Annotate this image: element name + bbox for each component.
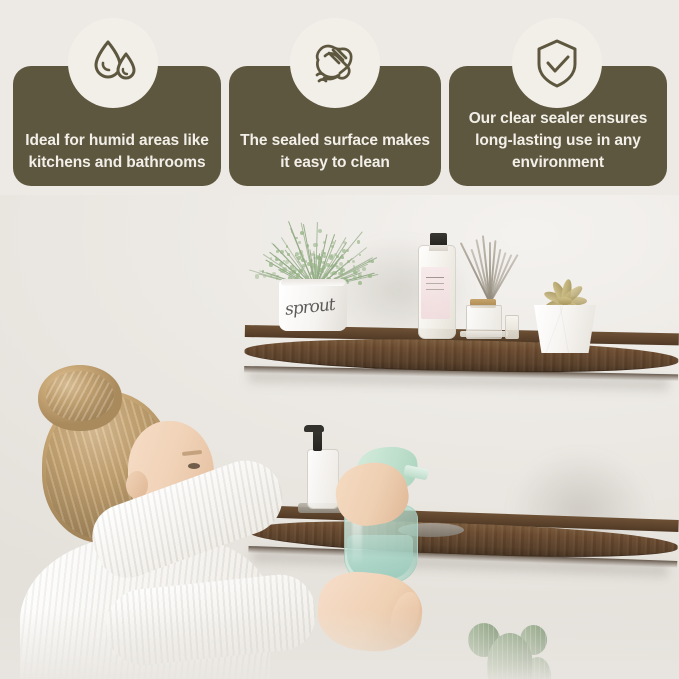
bottle-label: [421, 267, 450, 319]
bottle-neck: [429, 245, 448, 251]
feature-icon-badge: [290, 18, 380, 108]
feature-card-text: Our clear sealer ensures long-lasting us…: [457, 108, 659, 174]
feature-card-text: The sealed surface makes it easy to clea…: [237, 130, 433, 174]
planter-facets: [534, 305, 596, 353]
water-drops-icon: [84, 34, 142, 92]
small-vial: [505, 315, 519, 339]
hair-bun: [38, 365, 122, 431]
feature-card-text: Ideal for humid areas like kitchens and …: [21, 130, 213, 174]
reed-sticks: [458, 233, 520, 303]
bottom-fade: [0, 609, 679, 679]
eye: [188, 463, 200, 469]
product-photo-scene: sprout: [0, 195, 679, 679]
feature-cards-row: Ideal for humid areas like kitchens and …: [0, 0, 679, 200]
product-feature-image: Ideal for humid areas like kitchens and …: [0, 0, 679, 679]
hand-wiping-cloth-icon: [305, 33, 365, 93]
feature-icon-badge: [68, 18, 158, 108]
shield-check-icon: [528, 34, 586, 92]
feature-icon-badge: [512, 18, 602, 108]
reed-diffuser-tray: [460, 331, 508, 337]
